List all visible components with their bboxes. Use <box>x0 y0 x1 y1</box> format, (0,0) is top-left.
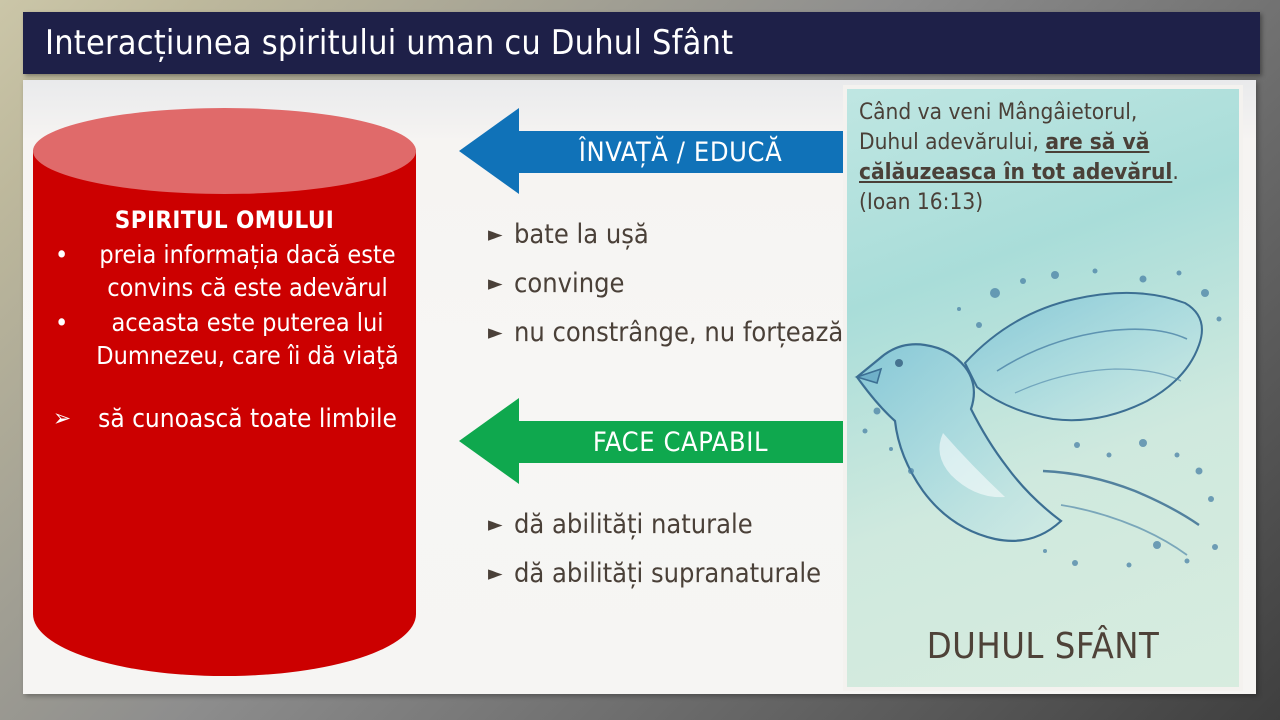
arrow-shaft: FACE CAPABIL <box>517 421 844 463</box>
verse-line-2-underlined: are să vă <box>1045 129 1149 155</box>
verse-line-1: Când va veni Mângâietorul, <box>859 99 1137 125</box>
slide-canvas: Interacțiunea spiritului uman cu Duhul S… <box>0 0 1280 720</box>
arrow-label: ÎNVAȚĂ / EDUCĂ <box>579 137 783 168</box>
verse-line-3-underlined: călăuzeasca în tot adevărul <box>859 159 1172 185</box>
group-face-capabil: FACE CAPABIL ► dă abilități naturale ► d… <box>459 398 859 598</box>
verse-line-2-plain: Duhul adevărului, <box>859 129 1045 155</box>
group-invata-educa: ÎNVAȚĂ / EDUCĂ ► bate la ușă ► convinge … <box>459 108 859 357</box>
arrow-banner-invata-educa: ÎNVAȚĂ / EDUCĂ <box>459 108 859 194</box>
list-item-label: nu constrânge, nu forțează <box>514 317 843 348</box>
page-title: Interacțiunea spiritului uman cu Duhul S… <box>45 23 733 63</box>
list-item-label: preia informația dacă este convins că es… <box>85 238 410 304</box>
bible-verse-text: Când va veni Mângâietorul, Duhul adevăru… <box>859 97 1235 217</box>
human-spirit-cylinder: SPIRITUL OMULUI • preia informația dacă … <box>33 108 416 676</box>
arrow-shaft: ÎNVAȚĂ / EDUCĂ <box>517 131 844 173</box>
list-item: ► dă abilități naturale <box>514 500 859 549</box>
verse-reference: (Ioan 16:13) <box>859 189 983 215</box>
arrow-banner-face-capabil: FACE CAPABIL <box>459 398 859 484</box>
list-item: ► bate la ușă <box>514 210 859 259</box>
list-item-label: să cunoască toate limbile <box>98 404 397 434</box>
list-item-label: dă abilități naturale <box>514 509 753 540</box>
list-item: ► dă abilități supranaturale <box>514 549 859 598</box>
cylinder-text-block: SPIRITUL OMULUI • preia informația dacă … <box>33 206 416 436</box>
verse-line-3-tail: . <box>1172 159 1178 185</box>
triangle-bullet-icon: ► <box>488 500 503 549</box>
bullet-list-capabil: ► dă abilități naturale ► dă abilități s… <box>459 500 859 598</box>
triangle-bullet-icon: ► <box>488 308 503 357</box>
bullet-list-invata: ► bate la ușă ► convinge ► nu constrânge… <box>459 210 859 357</box>
triangle-bullet-icon: ► <box>488 549 503 598</box>
list-item: ► nu constrânge, nu forțează <box>514 308 859 357</box>
list-item-label: aceasta este puterea lui Dumnezeu, care … <box>85 306 410 372</box>
image-caption: DUHUL SFÂNT <box>847 626 1239 667</box>
holy-spirit-image-panel: Când va veni Mângâietorul, Duhul adevăru… <box>843 85 1243 691</box>
list-item: • preia informația dacă este convins că … <box>33 238 416 304</box>
slide-title-bar: Interacțiunea spiritului uman cu Duhul S… <box>23 12 1260 74</box>
bullet-dot-icon: • <box>55 306 68 339</box>
cylinder-top-ellipse <box>33 108 416 194</box>
list-item-final: ➢ să cunoască toate limbile <box>33 402 416 436</box>
left-arrow-icon <box>459 108 519 194</box>
triangle-bullet-icon: ► <box>488 210 503 259</box>
list-item-label: dă abilități supranaturale <box>514 558 821 589</box>
list-item-label: convinge <box>514 268 625 299</box>
list-item-label: bate la ușă <box>514 219 649 250</box>
chevron-arrow-icon: ➢ <box>53 401 71 435</box>
slide-content-panel: SPIRITUL OMULUI • preia informația dacă … <box>23 80 1256 694</box>
bullet-dot-icon: • <box>55 238 68 271</box>
arrow-label: FACE CAPABIL <box>593 427 768 458</box>
left-arrow-icon <box>459 398 519 484</box>
middle-column: ÎNVAȚĂ / EDUCĂ ► bate la ușă ► convinge … <box>431 80 841 694</box>
cylinder-heading: SPIRITUL OMULUI <box>33 206 416 234</box>
list-item: • aceasta este puterea lui Dumnezeu, car… <box>33 306 416 372</box>
water-splash-dove-image <box>847 259 1243 589</box>
triangle-bullet-icon: ► <box>488 259 503 308</box>
list-item: ► convinge <box>514 259 859 308</box>
